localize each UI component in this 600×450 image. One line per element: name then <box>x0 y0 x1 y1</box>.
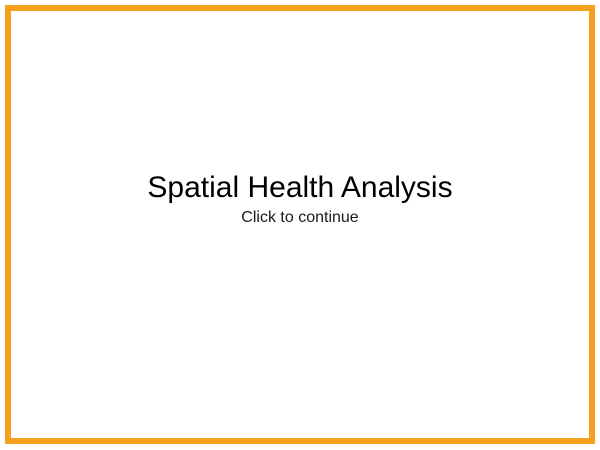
slide-page: Spatial Health Analysis Click to continu… <box>0 0 600 450</box>
title-block: Spatial Health Analysis Click to continu… <box>11 171 589 227</box>
click-to-continue-prompt[interactable]: Click to continue <box>11 208 589 227</box>
slide-orange-frame: Spatial Health Analysis Click to continu… <box>5 5 595 444</box>
slide-canvas[interactable]: Spatial Health Analysis Click to continu… <box>11 11 589 438</box>
page-title: Spatial Health Analysis <box>11 171 589 205</box>
